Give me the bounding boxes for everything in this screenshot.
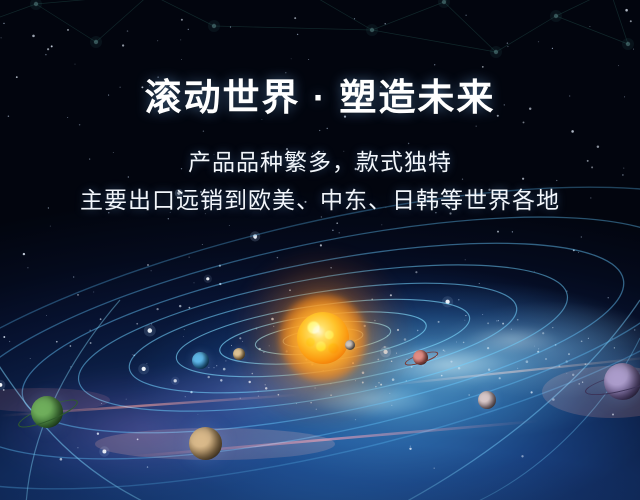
banner-text-block: 滚动世界 · 塑造未来 产品品种繁多，款式独特 主要出口远销到欧美、中东、日韩等…: [0, 0, 640, 217]
banner-subline-1: 产品品种繁多，款式独特: [0, 120, 640, 179]
space-hero-banner: 滚动世界 · 塑造未来 产品品种繁多，款式独特 主要出口远销到欧美、中东、日韩等…: [0, 0, 640, 500]
banner-headline: 滚动世界 · 塑造未来: [0, 0, 640, 120]
banner-subline-2: 主要出口远销到欧美、中东、日韩等世界各地: [0, 178, 640, 217]
